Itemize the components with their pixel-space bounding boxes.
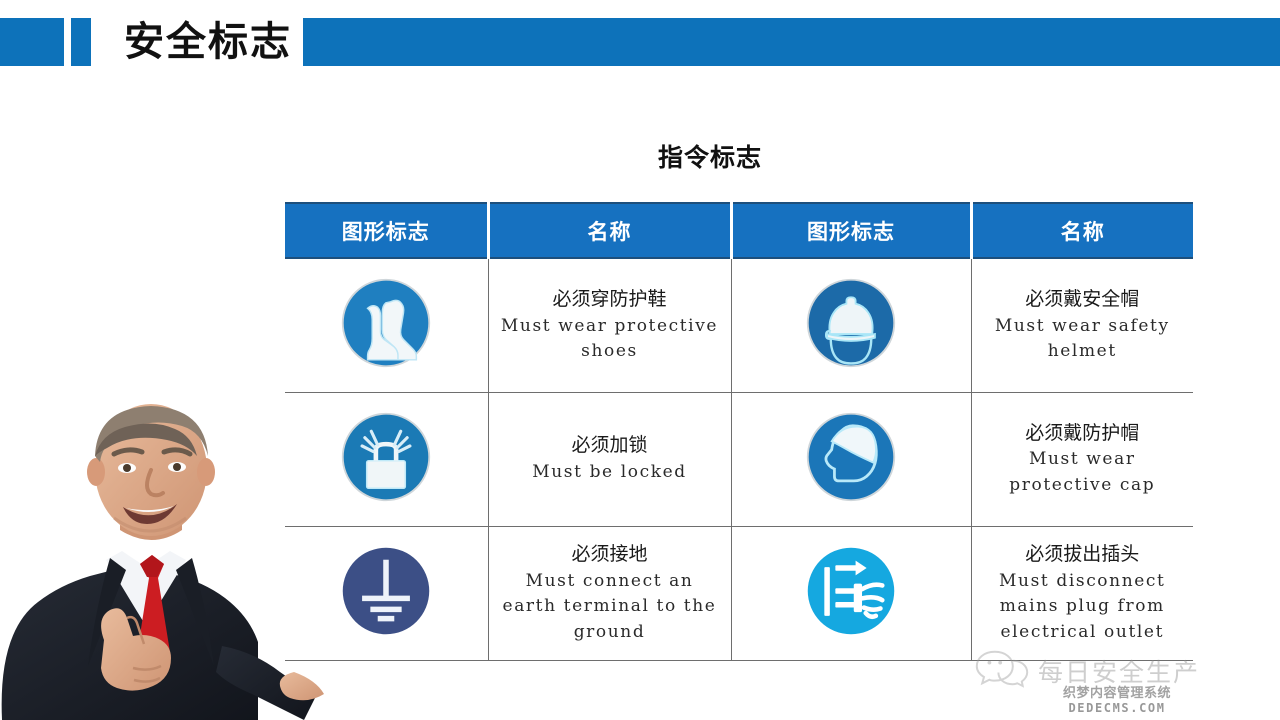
sign-name-en: Must connect an earth terminal to the gr…	[493, 569, 727, 646]
slide-root: 安全标志 指令标志 图形标志 名称 图形标志 名称	[0, 0, 1280, 720]
table-header-row: 图形标志 名称 图形标志 名称	[285, 203, 1193, 258]
mandatory-signs-table: 图形标志 名称 图形标志 名称	[285, 202, 1193, 661]
sign-name-cell-1-right: 必须戴安全帽 Must wear safety helmet	[971, 258, 1193, 392]
safety-helmet-icon	[805, 277, 897, 369]
businessman-photo	[0, 378, 324, 720]
protective-cap-icon	[805, 411, 897, 503]
dedecms-watermark-en: DEDECMS.COM	[1063, 701, 1171, 715]
sign-name-zh: 必须接地	[493, 541, 727, 569]
header-accent-block-narrow	[71, 18, 91, 66]
sign-name-en: Must disconnect mains plug from electric…	[976, 569, 1190, 646]
sign-name-en: Must be locked	[493, 460, 727, 486]
col-header-name-2: 名称	[971, 203, 1193, 258]
sign-cell-safety-boots	[285, 258, 488, 392]
sign-name-cell-2-left: 必须加锁 Must be locked	[488, 392, 731, 526]
sign-name-en: Must wear protective cap	[976, 447, 1190, 498]
sign-name-zh: 必须加锁	[493, 432, 727, 460]
col-header-name-1: 名称	[488, 203, 731, 258]
sign-name-en: Must wear protective shoes	[493, 314, 727, 365]
dedecms-watermark-zh: 织梦内容管理系统	[1063, 682, 1171, 701]
sign-name-cell-1-left: 必须穿防护鞋 Must wear protective shoes	[488, 258, 731, 392]
table-row: 必须接地 Must connect an earth terminal to t…	[285, 526, 1193, 660]
table-head: 图形标志 名称 图形标志 名称	[285, 203, 1193, 258]
page-title: 安全标志	[124, 16, 292, 68]
sign-name-zh: 必须戴安全帽	[976, 286, 1190, 314]
slide-header: 安全标志	[0, 18, 1280, 66]
padlock-icon	[340, 411, 432, 503]
header-accent-block-wide	[0, 18, 64, 66]
sign-name-cell-3-right: 必须拔出插头 Must disconnect mains plug from e…	[971, 526, 1193, 660]
sign-name-zh: 必须戴防护帽	[976, 420, 1190, 448]
signs-table-wrap: 图形标志 名称 图形标志 名称	[285, 202, 1193, 661]
disconnect-plug-icon	[805, 545, 897, 637]
section-title-wrap: 指令标志	[0, 138, 1280, 174]
dedecms-watermark: 织梦内容管理系统 DEDECMS.COM	[1063, 682, 1171, 715]
sign-cell-safety-helmet	[731, 258, 971, 392]
earth-ground-icon	[340, 545, 432, 637]
sign-name-cell-3-left: 必须接地 Must connect an earth terminal to t…	[488, 526, 731, 660]
sign-name-en: Must wear safety helmet	[976, 314, 1190, 365]
sign-name-zh: 必须拔出插头	[976, 541, 1190, 569]
table-row: 必须加锁 Must be locked	[285, 392, 1193, 526]
sign-name-zh: 必须穿防护鞋	[493, 286, 727, 314]
sign-cell-disconnect-plug	[731, 526, 971, 660]
wechat-icon	[975, 648, 1029, 693]
table-row: 必须穿防护鞋 Must wear protective shoes	[285, 258, 1193, 392]
header-accent-bar-right	[303, 18, 1280, 66]
sign-cell-protective-cap	[731, 392, 971, 526]
safety-boots-icon	[340, 277, 432, 369]
table-body: 必须穿防护鞋 Must wear protective shoes	[285, 258, 1193, 660]
col-header-graphic-1: 图形标志	[285, 203, 488, 258]
section-title: 指令标志	[658, 138, 762, 174]
sign-name-cell-2-right: 必须戴防护帽 Must wear protective cap	[971, 392, 1193, 526]
col-header-graphic-2: 图形标志	[731, 203, 971, 258]
